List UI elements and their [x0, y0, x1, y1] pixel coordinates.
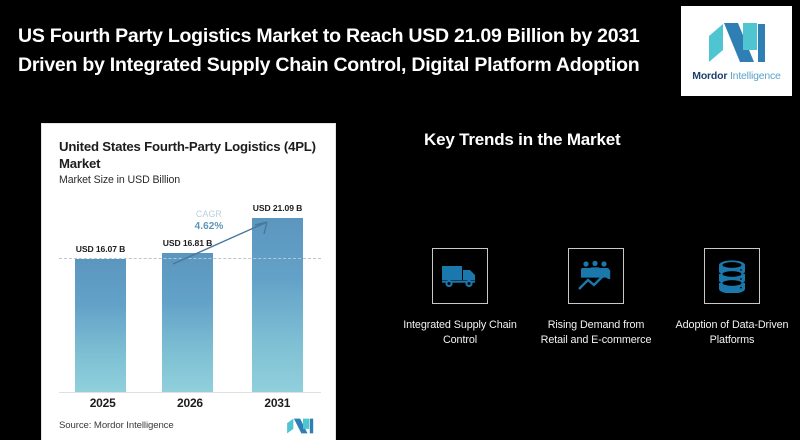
bar-2026: [162, 253, 213, 392]
trend-item-integrated-supply-chain-control: Integrated Supply Chain Control: [392, 248, 528, 348]
page-title-line-1: US Fourth Party Logistics Market to Reac…: [18, 22, 663, 51]
trend-caption: Adoption of Data-Driven Platforms: [673, 318, 791, 348]
chart-subtitle: Market Size in USD Billion: [59, 174, 180, 186]
cagr-annotation: CAGR 4.62%: [177, 208, 241, 233]
x-tick-2031: 2031: [234, 396, 321, 410]
trend-icon-box: [568, 248, 624, 304]
chart-source: Source: Mordor Intelligence: [59, 420, 174, 431]
x-axis-line: [59, 392, 321, 393]
trends-list: Integrated Supply Chain Control Rising D…: [392, 248, 800, 348]
trend-item-rising-demand-retail-ecommerce: Rising Demand from Retail and E-commerce: [528, 248, 664, 348]
database-icon: [716, 259, 748, 293]
people-growth-chart-icon: [577, 260, 615, 292]
trend-icon-box: [432, 248, 488, 304]
x-tick-2026: 2026: [146, 396, 233, 410]
brand-logo-text-light: Intelligence: [727, 70, 780, 82]
brand-logo-text: Mordor Intelligence: [692, 70, 780, 82]
trend-item-adoption-data-driven-platforms: Adoption of Data-Driven Platforms: [664, 248, 800, 348]
trend-caption: Integrated Supply Chain Control: [401, 318, 519, 348]
x-axis-labels: 2025 2026 2031: [59, 396, 321, 416]
chart-card: United States Fourth-Party Logistics (4P…: [42, 124, 335, 440]
page-header: US Fourth Party Logistics Market to Reac…: [0, 0, 800, 108]
mordor-m-logo-icon: [707, 20, 767, 64]
cagr-value: 4.62%: [177, 220, 241, 233]
delivery-truck-icon: [441, 263, 479, 289]
trends-heading: Key Trends in the Market: [424, 130, 620, 150]
page-title-line-2: Driven by Integrated Supply Chain Contro…: [18, 51, 663, 80]
cagr-label: CAGR: [177, 208, 241, 220]
brand-logo-text-bold: Mordor: [692, 70, 727, 82]
mordor-m-logo-icon: [286, 417, 320, 435]
chart-title: United States Fourth-Party Logistics (4P…: [59, 138, 321, 172]
chart-plot-area: USD 16.07 B USD 16.81 B USD 21.09 B CAGR…: [59, 202, 321, 392]
bar-label-2025: USD 16.07 B: [76, 244, 126, 254]
page-title: US Fourth Party Logistics Market to Reac…: [18, 22, 663, 80]
trend-icon-box: [704, 248, 760, 304]
brand-logo: Mordor Intelligence: [681, 6, 792, 96]
x-tick-2025: 2025: [59, 396, 146, 410]
bar-2025: [75, 259, 126, 392]
trend-caption: Rising Demand from Retail and E-commerce: [537, 318, 655, 348]
